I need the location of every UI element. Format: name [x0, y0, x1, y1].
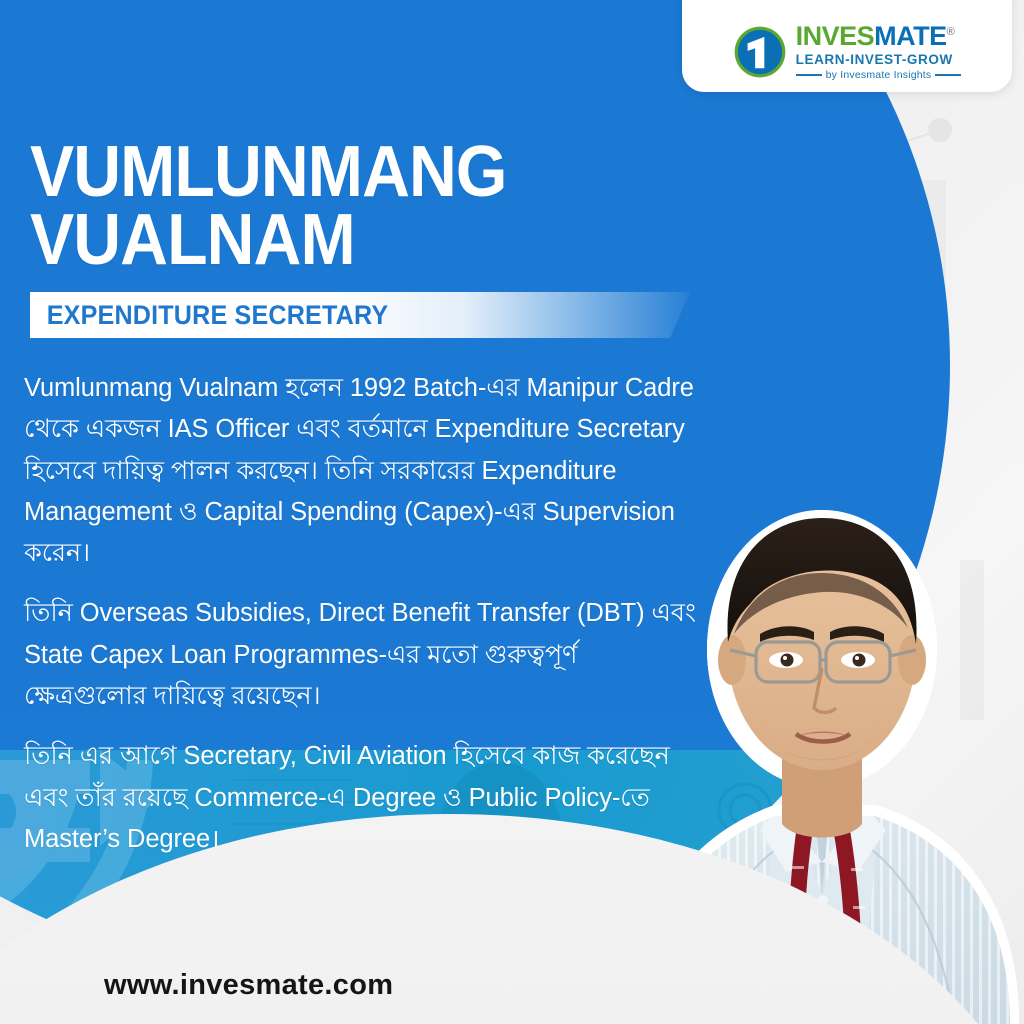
brand-wordmark: INVESMATE® — [796, 23, 962, 50]
page-title-line-2: VUALNAM — [30, 206, 674, 274]
role-label: EXPENDITURE SECRETARY — [30, 300, 388, 331]
brand-tagline: LEARN-INVEST-GROW — [796, 53, 962, 67]
paragraph-2: তিনি Overseas Subsidies, Direct Benefit … — [24, 593, 704, 717]
paragraph-1: Vumlunmang Vualnam হলেন 1992 Batch-এর Ma… — [24, 368, 704, 574]
invesmate-i-monogram-icon — [733, 25, 787, 79]
brand-subtagline-row: by Invesmate Insights — [796, 70, 962, 81]
page-title: VUMLUNMANG VUALNAM — [30, 138, 674, 275]
website-url[interactable]: www.invesmate.com — [104, 969, 393, 1002]
poster-canvas: INVESMATE® LEARN-INVEST-GROW by Invesmat… — [0, 0, 1024, 1024]
brand-wordmark-part2: MATE — [874, 21, 947, 51]
divider-line-right — [935, 74, 961, 76]
divider-line-left — [796, 74, 822, 76]
registered-trademark-icon: ® — [947, 26, 955, 38]
brand-subtagline: by Invesmate Insights — [826, 70, 932, 81]
brand-wordmark-part1: INVES — [796, 21, 875, 51]
role-banner: EXPENDITURE SECRETARY — [30, 292, 690, 338]
brand-logo-card[interactable]: INVESMATE® LEARN-INVEST-GROW by Invesmat… — [682, 0, 1012, 92]
body-copy: Vumlunmang Vualnam হলেন 1992 Batch-এর Ma… — [24, 368, 704, 860]
